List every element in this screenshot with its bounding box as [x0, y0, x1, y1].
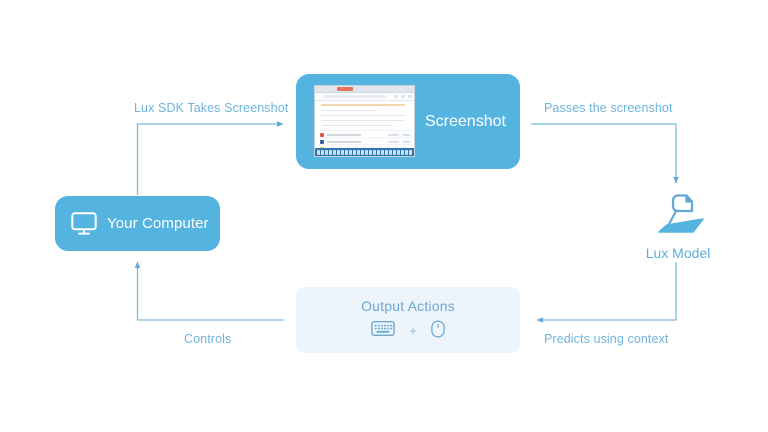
edge-label-sdk-takes-screenshot: Lux SDK Takes Screenshot: [134, 101, 288, 115]
thumbnail-titlebar: [315, 86, 414, 93]
plus-separator: +: [409, 325, 416, 337]
thumbnail-toolbar: [315, 93, 414, 101]
keyboard-icon[interactable]: [371, 320, 395, 342]
mouse-icon[interactable]: [431, 320, 445, 343]
node-your-computer-label: Your Computer: [107, 215, 209, 232]
node-output-actions-title: Output Actions: [361, 298, 455, 314]
edge-label-predicts-using-context: Predicts using context: [544, 332, 668, 346]
edge-predicts-using-context: [537, 262, 676, 320]
edge-label-passes-the-screenshot: Passes the screenshot: [544, 101, 673, 115]
output-actions-icon-row: +: [371, 320, 444, 343]
node-screenshot-label: Screenshot: [425, 113, 506, 131]
thumbnail-toolbar-button: [394, 95, 398, 98]
thumbnail-dock: [315, 148, 414, 156]
edge-passes-the-screenshot: [531, 124, 676, 183]
thumbnail-text-line: [321, 125, 393, 126]
thumbnail-content: [315, 101, 414, 156]
thumbnail-text-line: [321, 115, 405, 116]
node-lux-model-label: Lux Model: [646, 245, 711, 261]
lux-lamp-icon: [646, 192, 710, 241]
thumbnail-url-bar: [324, 95, 386, 98]
node-screenshot[interactable]: Screenshot: [296, 74, 520, 169]
node-lux-model[interactable]: Lux Model: [628, 192, 728, 254]
thumbnail-banner: [321, 104, 405, 106]
thumbnail-active-tab: [337, 87, 353, 91]
browser-window-thumbnail: [314, 85, 415, 157]
thumbnail-toolbar-button: [408, 95, 412, 98]
thumbnail-text-line: [321, 120, 405, 121]
edge-sdk-takes-screenshot: [138, 124, 284, 195]
diagram-canvas: Your Computer: [0, 0, 768, 432]
edge-label-controls: Controls: [184, 332, 231, 346]
edge-controls: [138, 262, 285, 320]
thumbnail-text-line: [321, 110, 377, 111]
node-output-actions[interactable]: Output Actions: [296, 287, 520, 353]
monitor-icon: [71, 212, 97, 236]
node-your-computer[interactable]: Your Computer: [55, 196, 220, 251]
thumbnail-toolbar-button: [401, 95, 405, 98]
